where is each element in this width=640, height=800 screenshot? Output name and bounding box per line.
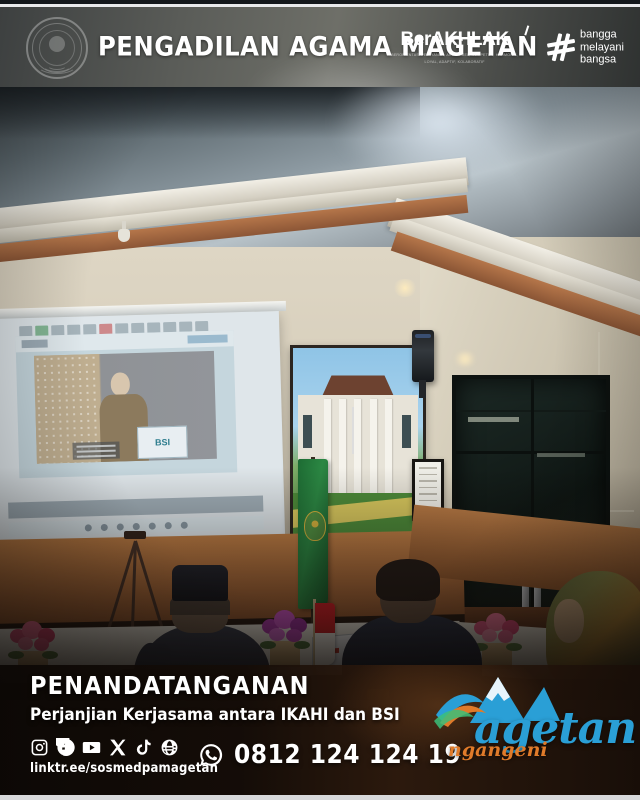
podium-label: BSI [155,437,170,447]
podium-bsi: BSI [137,425,188,459]
bottom-border-light [0,795,640,800]
ceiling-downlight [452,352,478,366]
magetan-tagline: ngangeni [448,739,548,761]
footer-caption-bar: PENANDATANGANAN Perjanjian Kerjasama ant… [0,665,640,795]
berakhlak-wordmark: BerAKHLAK [391,29,518,51]
screen-participant-strip [8,496,263,519]
cctv-camera-icon [118,221,130,243]
youtube-icon[interactable] [82,738,101,757]
hashtag-icon [548,34,574,60]
linktree-url[interactable]: linktr.ee/sosmedpamagetan [30,761,218,776]
event-photo: BSI [0,87,640,700]
peci-cap [172,565,228,601]
poster-root: PENGADILAN AGAMA MAGETAN BerAKHLAK BEROR… [0,0,640,800]
wall-speaker-icon [412,330,434,382]
caption-title: PENANDATANGANAN [30,671,310,700]
whatsapp-icon[interactable] [198,742,224,768]
pengadilan-agama-magetan-seal-icon [26,17,88,79]
bangga-melayani-bangsa-logo: bangga melayani bangsa [548,28,624,66]
magetan-tourism-logo: agetan ngangeni [416,673,626,773]
berakhlak-sub-line1: BERORIENTASI PELAYANAN, AKUNTABEL, KOMPE… [391,53,518,58]
bangga-line-2: melayani [580,41,624,54]
bangga-line-3: bangsa [580,53,624,66]
tiktok-icon[interactable] [134,738,153,757]
berakhlak-sub-line2: LOYAL, ADAPTIF, KOLABORATIF [391,60,518,65]
screen-video-window: BSI [15,330,237,478]
social-media-icons [30,738,179,757]
screen-caption-box [72,441,119,460]
ceiling-downlight [392,279,418,297]
berakhlak-logo: BerAKHLAK BERORIENTASI PELAYANAN, AKUNTA… [391,29,518,65]
screen-video-feed: BSI [34,351,217,464]
header-bar: PENGADILAN AGAMA MAGETAN BerAKHLAK BEROR… [0,7,640,87]
caption-subtitle: Perjanjian Kerjasama antara IKAHI dan BS… [30,705,400,725]
website-globe-icon[interactable] [160,738,179,757]
x-twitter-icon[interactable] [108,738,127,757]
facebook-icon[interactable] [56,738,75,757]
bangga-line-1: bangga [580,28,624,41]
projector-screen: BSI [0,311,285,543]
instagram-icon[interactable] [30,738,49,757]
